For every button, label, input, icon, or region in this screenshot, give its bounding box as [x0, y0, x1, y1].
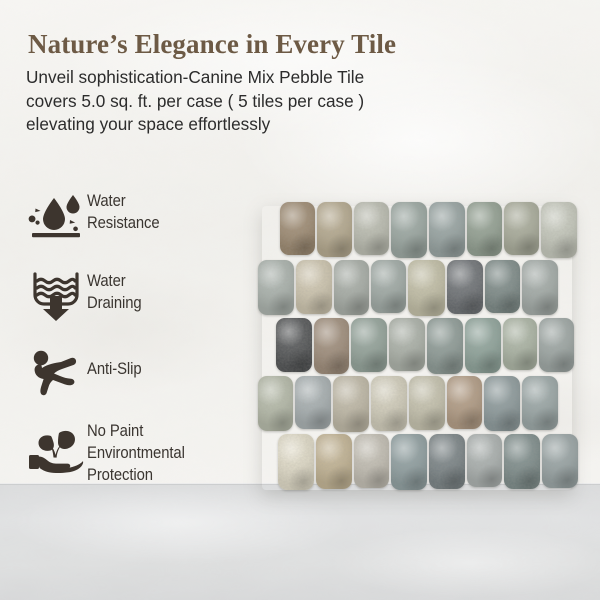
- pebble-stone: [296, 260, 332, 314]
- pebble-stone: [295, 376, 331, 429]
- pebble-stone: [334, 260, 369, 315]
- pebble-stone: [276, 318, 312, 372]
- pebble-stone: [522, 376, 558, 430]
- pebble-row: [280, 202, 579, 259]
- feature-label: Water Draining: [87, 264, 142, 314]
- pebble-stone: [427, 318, 463, 374]
- pebble-stone: [354, 202, 389, 255]
- pebble-stone: [447, 376, 482, 429]
- pebble-stone: [485, 260, 520, 313]
- pebble-stone: [465, 318, 501, 373]
- pebble-row: [258, 376, 560, 433]
- pebble-stone: [542, 434, 578, 488]
- water-drop-icon: [25, 186, 87, 248]
- pebble-row: [276, 318, 576, 375]
- feature-water-draining: Water Draining: [25, 264, 240, 326]
- pebble-stone: [258, 376, 293, 431]
- description-line-3: elevating your space effortlessly: [26, 113, 496, 137]
- description-line-1: Unveil sophistication-Canine Mix Pebble …: [26, 66, 496, 90]
- pebble-stone: [408, 260, 445, 316]
- feature-list: Water Resistance Water Draining: [25, 186, 240, 502]
- feature-label: Water Resistance: [87, 186, 160, 234]
- pebble-stone: [351, 318, 387, 372]
- pebble-stone: [522, 260, 558, 315]
- pebble-stone: [371, 376, 407, 431]
- pebble-stone: [371, 260, 406, 313]
- pebble-stone: [316, 434, 352, 489]
- pebble-stone: [504, 434, 540, 489]
- feature-water-resistance: Water Resistance: [25, 186, 240, 248]
- pebble-stone: [314, 318, 349, 374]
- pebble-stone: [539, 318, 574, 372]
- description-line-2: covers 5.0 sq. ft. per case ( 5 tiles pe…: [26, 90, 496, 114]
- pebble-stone: [280, 202, 315, 255]
- pebble-row: [278, 434, 580, 491]
- pebble-stone: [409, 376, 445, 430]
- feature-environmental-protection: No Paint Environtmental Protection: [25, 420, 240, 486]
- pebble-stone: [503, 318, 537, 370]
- feature-label: No Paint Environtmental Protection: [87, 420, 185, 486]
- page-title: Nature’s Elegance in Every Tile: [28, 29, 548, 59]
- feature-label: Anti-Slip: [87, 342, 141, 380]
- pebble-stone: [333, 376, 369, 432]
- pebble-stone: [278, 434, 314, 490]
- pebble-stone: [391, 434, 427, 490]
- pebble-stone: [484, 376, 520, 431]
- product-marketing-image: Nature’s Elegance in Every Tile Unveil s…: [0, 0, 600, 600]
- water-draining-icon: [25, 264, 87, 326]
- product-description: Unveil sophistication-Canine Mix Pebble …: [26, 66, 496, 137]
- pebble-row: [258, 260, 560, 317]
- pebble-stone: [429, 202, 465, 257]
- pebble-stone: [391, 202, 427, 258]
- pebble-stone: [429, 434, 465, 489]
- pebble-stone: [447, 260, 483, 314]
- pebble-stone: [258, 260, 294, 315]
- pebble-stone: [317, 202, 352, 257]
- anti-slip-icon: [25, 342, 87, 404]
- pebble-tile-image: [258, 202, 570, 490]
- hand-plant-icon: [25, 420, 87, 482]
- pebble-stone: [541, 202, 577, 258]
- pebble-stone: [467, 434, 502, 487]
- pebble-stone: [354, 434, 389, 488]
- pebble-stone: [467, 202, 502, 256]
- feature-anti-slip: Anti-Slip: [25, 342, 240, 404]
- pebble-stone: [504, 202, 539, 255]
- pebble-stone: [389, 318, 425, 371]
